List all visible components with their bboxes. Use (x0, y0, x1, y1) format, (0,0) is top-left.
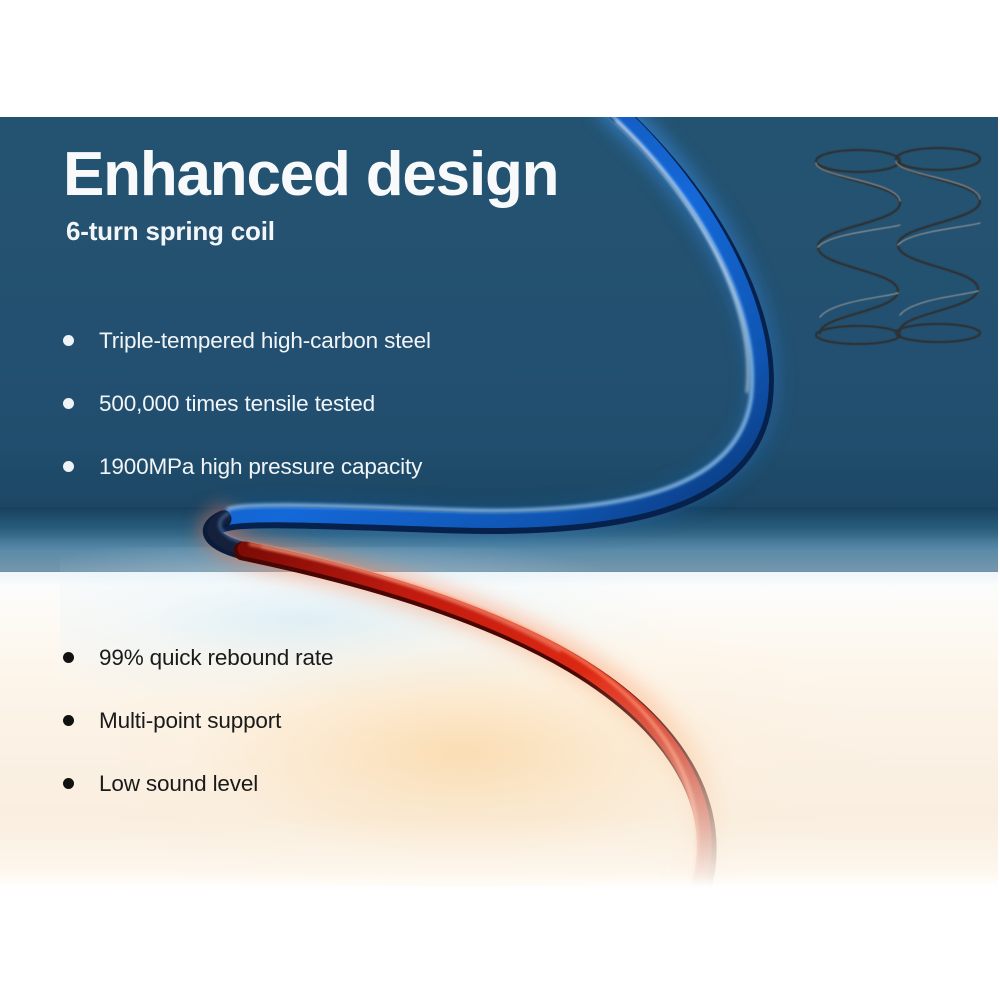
feature-label: Triple-tempered high-carbon steel (99, 328, 431, 354)
list-item: 500,000 times tensile tested (63, 372, 431, 435)
feature-label: 99% quick rebound rate (99, 645, 333, 671)
list-item: Low sound level (63, 752, 333, 815)
feature-label: Low sound level (99, 771, 258, 797)
bullet-dot-icon (63, 778, 74, 789)
bullet-dot-icon (63, 652, 74, 663)
list-item: 1900MPa high pressure capacity (63, 435, 431, 498)
bullet-dot-icon (63, 461, 74, 472)
bullet-dot-icon (63, 398, 74, 409)
feature-label: Multi-point support (99, 708, 281, 734)
list-item: 99% quick rebound rate (63, 626, 333, 689)
page-subtitle: 6-turn spring coil (66, 216, 558, 247)
bullet-dot-icon (63, 715, 74, 726)
top-feature-list: Triple-tempered high-carbon steel 500,00… (63, 309, 431, 498)
content-panel: Enhanced design 6-turn spring coil Tripl… (0, 117, 998, 888)
bullet-dot-icon (63, 335, 74, 346)
feature-label: 1900MPa high pressure capacity (99, 454, 422, 480)
bottom-feature-list: 99% quick rebound rate Multi-point suppo… (63, 626, 333, 815)
feature-label: 500,000 times tensile tested (99, 391, 375, 417)
list-item: Multi-point support (63, 689, 333, 752)
product-infographic: Enhanced design 6-turn spring coil Tripl… (0, 0, 1000, 1000)
page-title: Enhanced design (63, 144, 558, 206)
list-item: Triple-tempered high-carbon steel (63, 309, 431, 372)
heading-block: Enhanced design 6-turn spring coil (63, 144, 558, 247)
